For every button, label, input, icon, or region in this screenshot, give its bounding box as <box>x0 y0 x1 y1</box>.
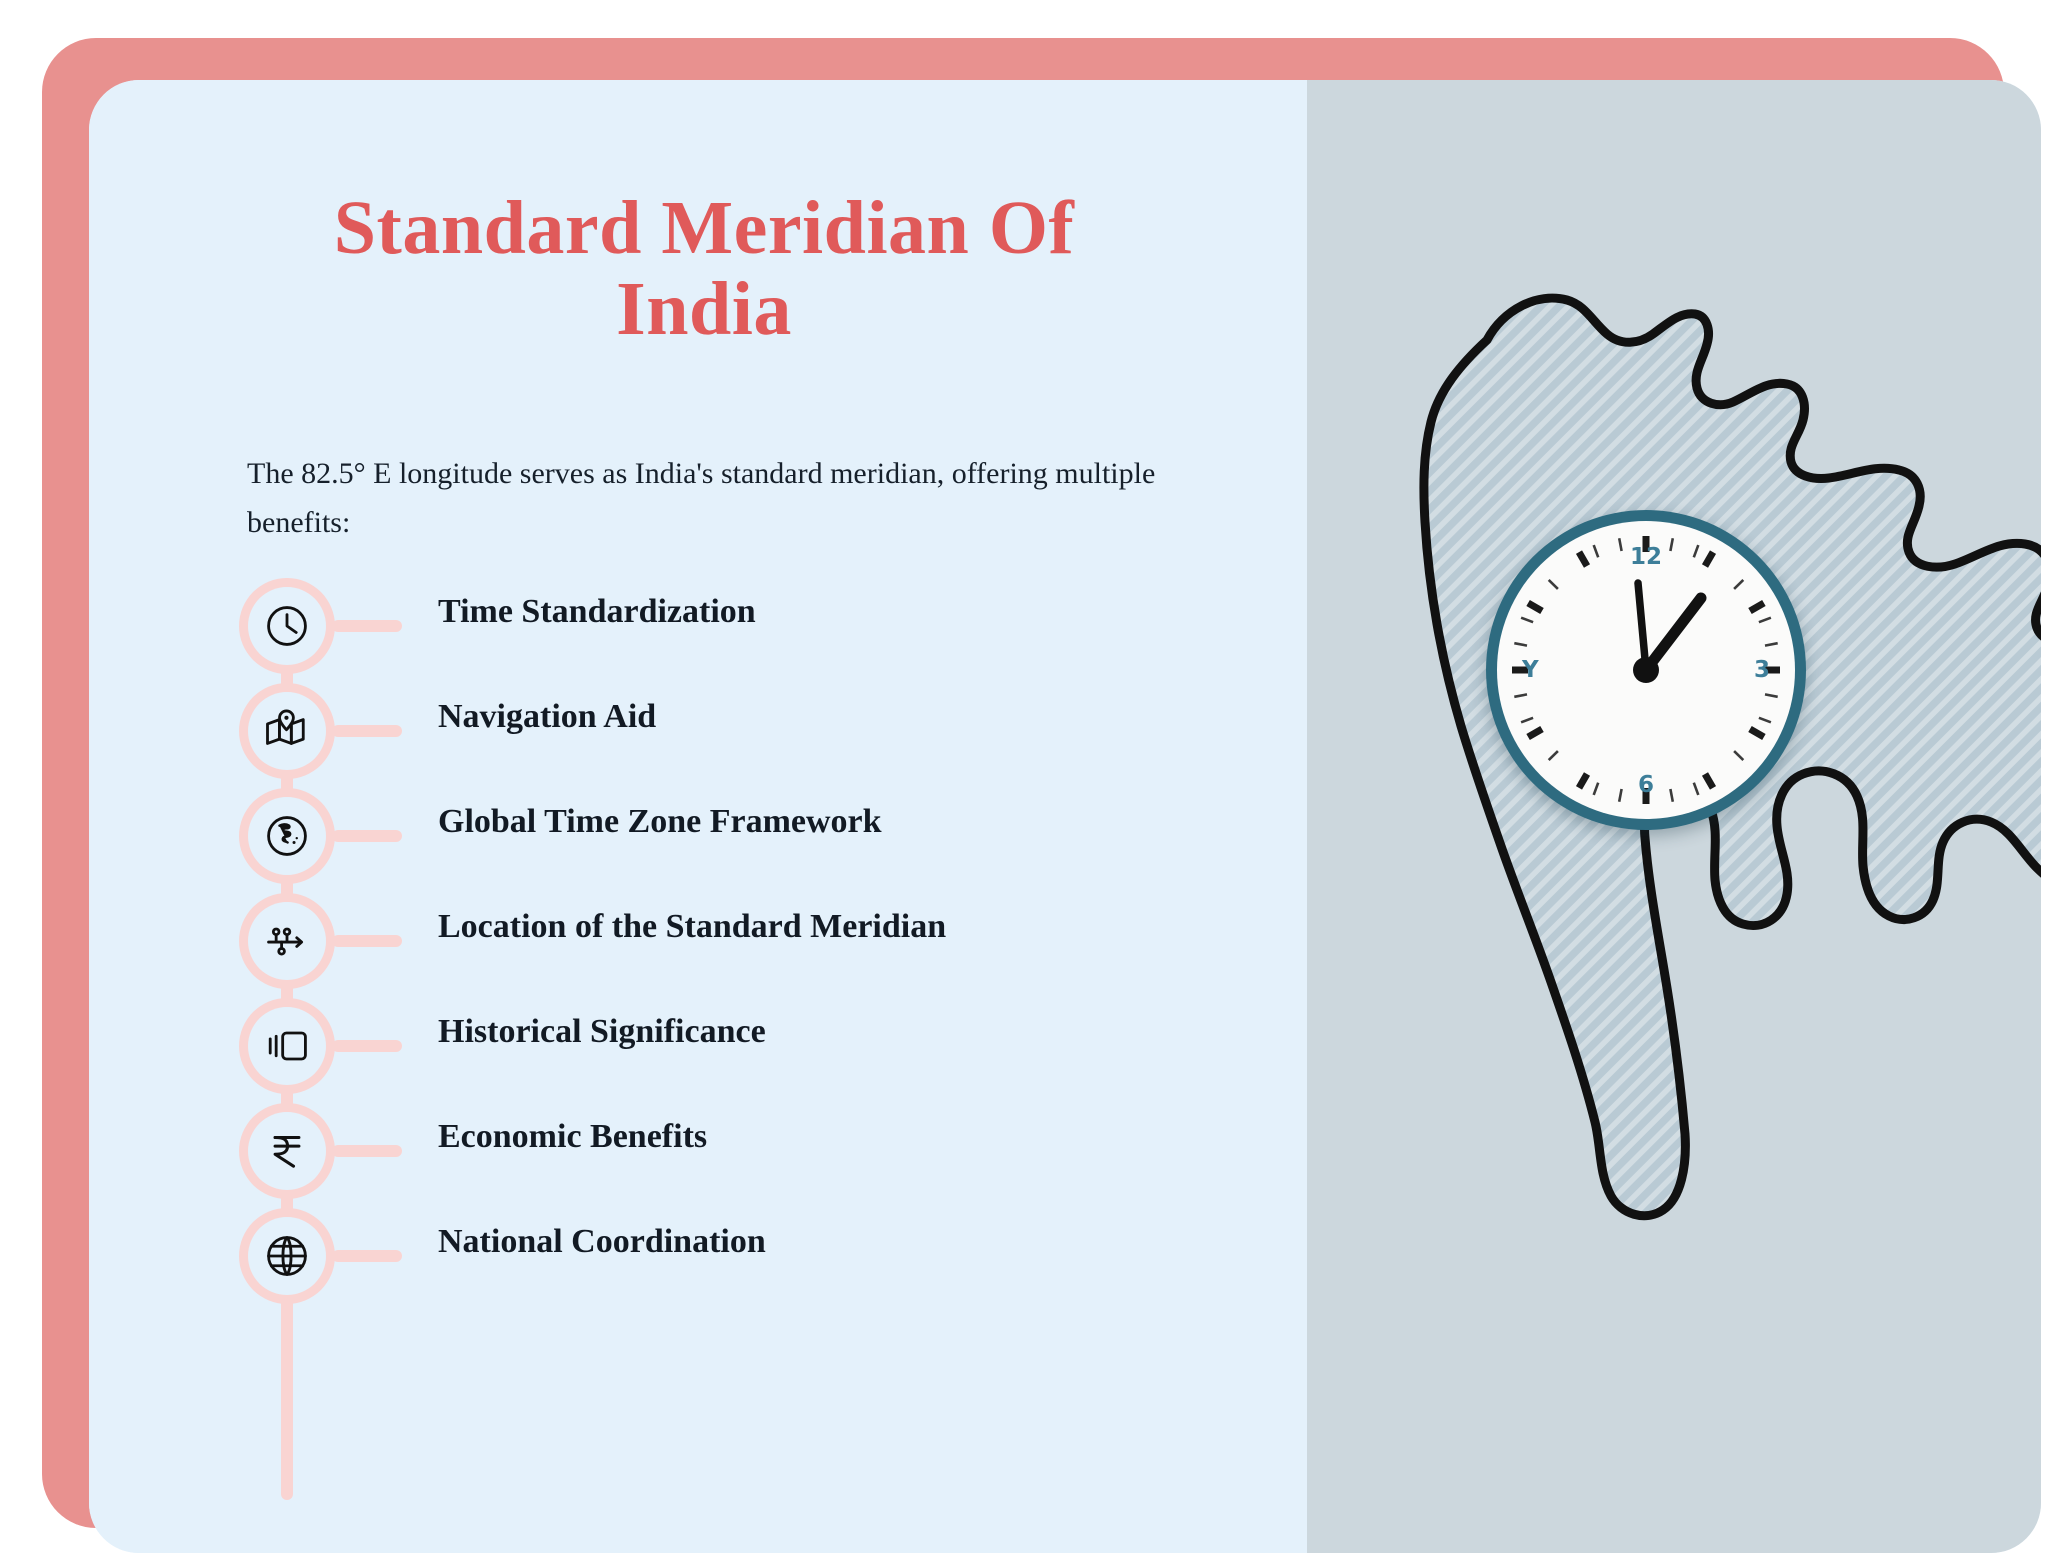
map-pin-icon <box>239 683 335 779</box>
card-frame: Standard Meridian Of India The 82.5° E l… <box>42 38 2004 1528</box>
timeline-item[interactable]: Economic Benefits <box>89 1103 1307 1199</box>
timeline-item[interactable]: Historical Significance <box>89 998 1307 1094</box>
timeline-flow-icon <box>239 893 335 989</box>
right-pane: 12 3 6 Y <box>1307 80 2041 1553</box>
clock-numeral-9: Y <box>1522 657 1539 683</box>
timeline-item[interactable]: Time Standardization <box>89 578 1307 674</box>
timeline-connector <box>332 725 402 737</box>
rupee-icon <box>239 1103 335 1199</box>
clock-numeral-12: 12 <box>1630 544 1662 570</box>
timeline-item-label: Location of the Standard Meridian <box>438 899 946 955</box>
timeline-item-label: Global Time Zone Framework <box>438 794 882 850</box>
clock-icon <box>239 578 335 674</box>
left-pane: Standard Meridian Of India The 82.5° E l… <box>89 80 1307 1553</box>
india-map-illustration: 12 3 6 Y <box>1307 80 2041 1553</box>
infographic-canvas: Standard Meridian Of India The 82.5° E l… <box>0 0 2048 1567</box>
timeline-connector <box>332 1145 402 1157</box>
timeline-item[interactable]: Global Time Zone Framework <box>89 788 1307 884</box>
timeline-item-label: Navigation Aid <box>438 689 656 745</box>
timeline-connector <box>332 1040 402 1052</box>
timeline-item-label: Economic Benefits <box>438 1109 707 1165</box>
timeline-item[interactable]: Navigation Aid <box>89 683 1307 779</box>
benefits-timeline: Time Standardization <box>89 80 1307 1553</box>
timeline-connector <box>332 935 402 947</box>
timeline-item-label: Time Standardization <box>438 584 756 640</box>
timeline-item-label: National Coordination <box>438 1214 766 1270</box>
globe-grid-icon <box>239 1208 335 1304</box>
clock-numeral-3: 3 <box>1754 657 1770 683</box>
timeline-connector <box>332 620 402 632</box>
timeline-item[interactable]: National Coordination <box>89 1208 1307 1304</box>
timeline-connector <box>332 830 402 842</box>
clock-numeral-6: 6 <box>1638 772 1654 798</box>
timeline-connector <box>332 1250 402 1262</box>
timeline-item[interactable]: Location of the Standard Meridian <box>89 893 1307 989</box>
wall-clock: 12 3 6 Y <box>1486 510 1806 830</box>
timeline-item-label: Historical Significance <box>438 1004 766 1060</box>
globe-world-icon <box>239 788 335 884</box>
history-cards-icon <box>239 998 335 1094</box>
card-inner: Standard Meridian Of India The 82.5° E l… <box>89 80 2041 1553</box>
